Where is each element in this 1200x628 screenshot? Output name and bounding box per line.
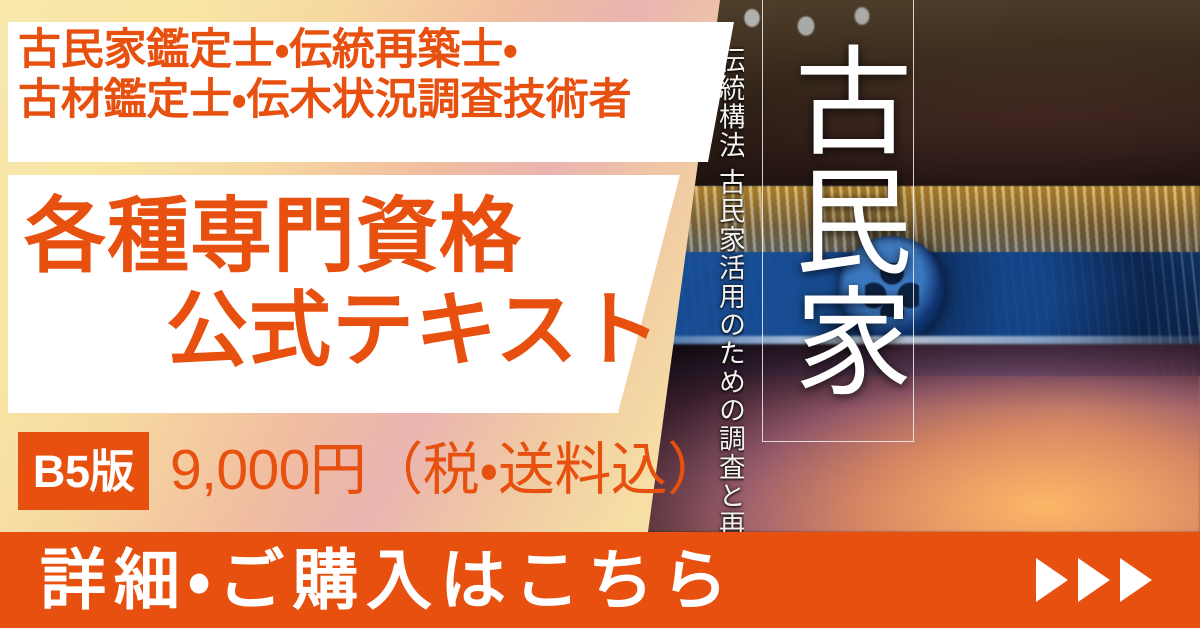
- chevron-right-icon: [1078, 558, 1110, 602]
- headline-line-1: 各種専門資格: [24, 196, 522, 278]
- promo-banner: 伝統構法 古民家活用のための調査と再生の 古民家 古民家鑑定士・伝統再築士・ 古…: [0, 0, 1200, 628]
- headline-line-2: 公式テキスト: [166, 290, 661, 372]
- chevron-right-icon: [1036, 558, 1068, 602]
- cover-title: 古民家: [766, 6, 912, 436]
- cta-label[interactable]: 詳細・ご購入はこちら: [40, 532, 736, 628]
- qualifications-line-2: 古材鑑定士・伝木状況調査技術者: [18, 75, 718, 125]
- chevron-right-icon: [1120, 558, 1152, 602]
- format-badge-label: B5版: [33, 449, 134, 494]
- qualifications-line-1: 古民家鑑定士・伝統再築士・: [18, 26, 517, 74]
- format-badge: B5版: [18, 432, 149, 510]
- qualifications-text: 古民家鑑定士・伝統再築士・ 古材鑑定士・伝木状況調査技術者: [18, 25, 718, 126]
- price-label: 9,000円（税・送料込）: [170, 436, 724, 504]
- cta-arrow-group[interactable]: [1036, 532, 1152, 628]
